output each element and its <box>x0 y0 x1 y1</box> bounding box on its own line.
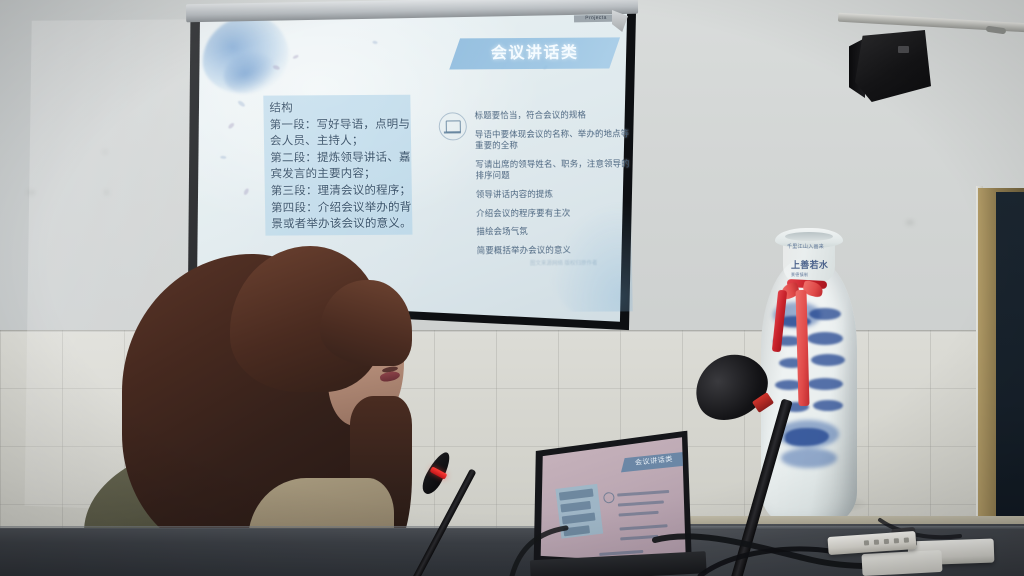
laptop-slide-line <box>618 500 664 506</box>
slide-structure-line: 景或者举办该会议的意义。 <box>265 216 412 233</box>
wall-mark <box>906 220 914 225</box>
laptop-slide-line <box>620 535 658 541</box>
laptop-slide-title-text: 会议讲话类 <box>622 452 686 472</box>
slide-petal <box>292 55 299 60</box>
slide-structure-line: 第一段：写好导语，点明与 <box>264 116 411 133</box>
wall-mark <box>28 190 35 195</box>
laptop-monitor-icon <box>603 492 615 504</box>
vase-lip-inner <box>785 232 833 241</box>
slide-point: 导语中要体现会议的名称、举办的地点等重要的全称 <box>475 128 633 152</box>
control-unit-secondary[interactable] <box>861 550 942 576</box>
slide-corner-decoration <box>547 201 633 314</box>
laptop-slide-line <box>617 490 669 497</box>
slide-point: 写请出席的领导姓名、职务，注意领导的排序问题 <box>475 158 632 182</box>
laptop-slide-box <box>555 484 603 539</box>
speaker-badge <box>898 46 909 53</box>
slide-petal <box>243 188 250 196</box>
wall-mark <box>103 150 107 154</box>
slide-petal <box>237 100 246 108</box>
monitor-icon <box>439 112 467 140</box>
doorway-opening <box>996 192 1024 536</box>
slide-structure-line: 宾发言的主要内容； <box>264 166 411 183</box>
slide-title-text: 会议讲话类 <box>454 37 614 69</box>
slide-petal <box>220 155 226 159</box>
wall-mark <box>104 190 109 195</box>
slide-point: 领导讲话内容的提炼 <box>476 188 633 201</box>
slide-structure-line: 第三段：理清会议的程序； <box>265 183 412 200</box>
hair-fringe <box>320 280 412 366</box>
porcelain-vase: 千里江山入画来 上善若水 景德镇制 <box>757 224 861 524</box>
screen-brand-label: Projecta <box>574 15 618 23</box>
slide-structure-box: 结构 第一段：写好导语，点明与 会人员、主持人； 第二段：提炼领导讲话、嘉 宾发… <box>263 95 412 236</box>
laptop-slide-line <box>619 511 659 517</box>
slide-structure-line: 第四段：介绍会议举办的背 <box>265 199 412 216</box>
laptop-slide-title: 会议讲话类 <box>621 452 687 473</box>
slide-petal <box>372 40 378 45</box>
slide-title-banner: 会议讲话类 <box>449 37 620 69</box>
slide-petal <box>227 122 235 129</box>
slide-structure-line: 会人员、主持人； <box>264 133 411 150</box>
lecture-room-photo: 会议讲话类 结构 第一段：写好导语，点明与 会人员、主持人； 第二段：提炼领导讲… <box>0 0 1024 576</box>
slide-structure-line: 结构 <box>263 95 410 117</box>
slide-point: 标题要恰当，符合会议的规格 <box>475 109 633 122</box>
slide-structure-line: 第二段：提炼领导讲话、嘉 <box>264 149 411 166</box>
desk-edge <box>0 526 1024 530</box>
vase-inscription-footer: 景德镇制 <box>791 272 831 278</box>
laptop-slide-line <box>620 524 668 530</box>
vase-inscription-small: 千里江山入画来 <box>787 244 831 250</box>
presenter-laptop[interactable]: 会议讲话类 <box>525 430 698 576</box>
vase-inscription: 上善若水 <box>791 260 831 270</box>
